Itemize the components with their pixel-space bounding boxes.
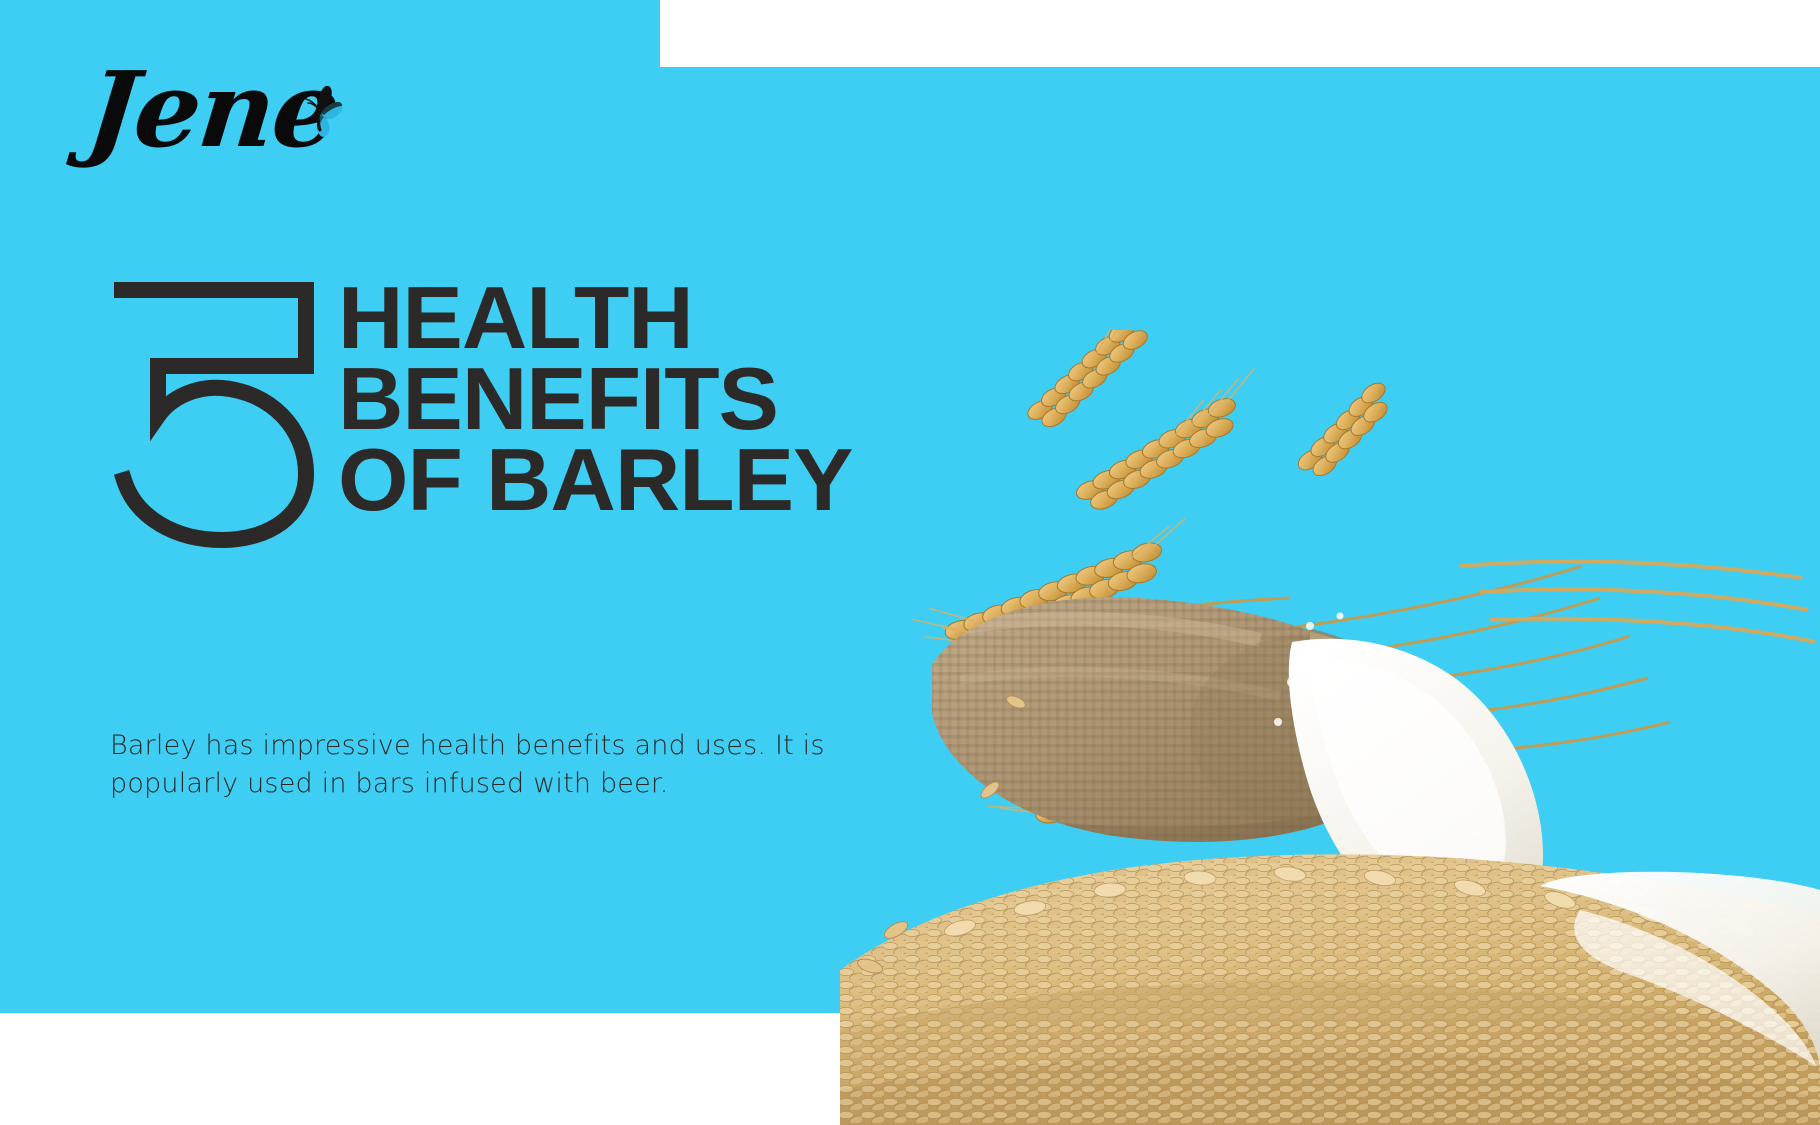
brand-logo[interactable]: Jene <box>88 58 388 198</box>
wheat-ear <box>999 330 1198 435</box>
butterfly-icon <box>290 82 346 142</box>
wheat-ear <box>1284 379 1408 484</box>
subtitle-text: Barley has impressive health benefits an… <box>110 727 870 804</box>
barley-illustration <box>840 330 1820 1125</box>
headline-number <box>110 278 325 548</box>
barley-sack-photo <box>840 330 1820 1125</box>
poster-canvas: Jene <box>0 0 1820 1125</box>
